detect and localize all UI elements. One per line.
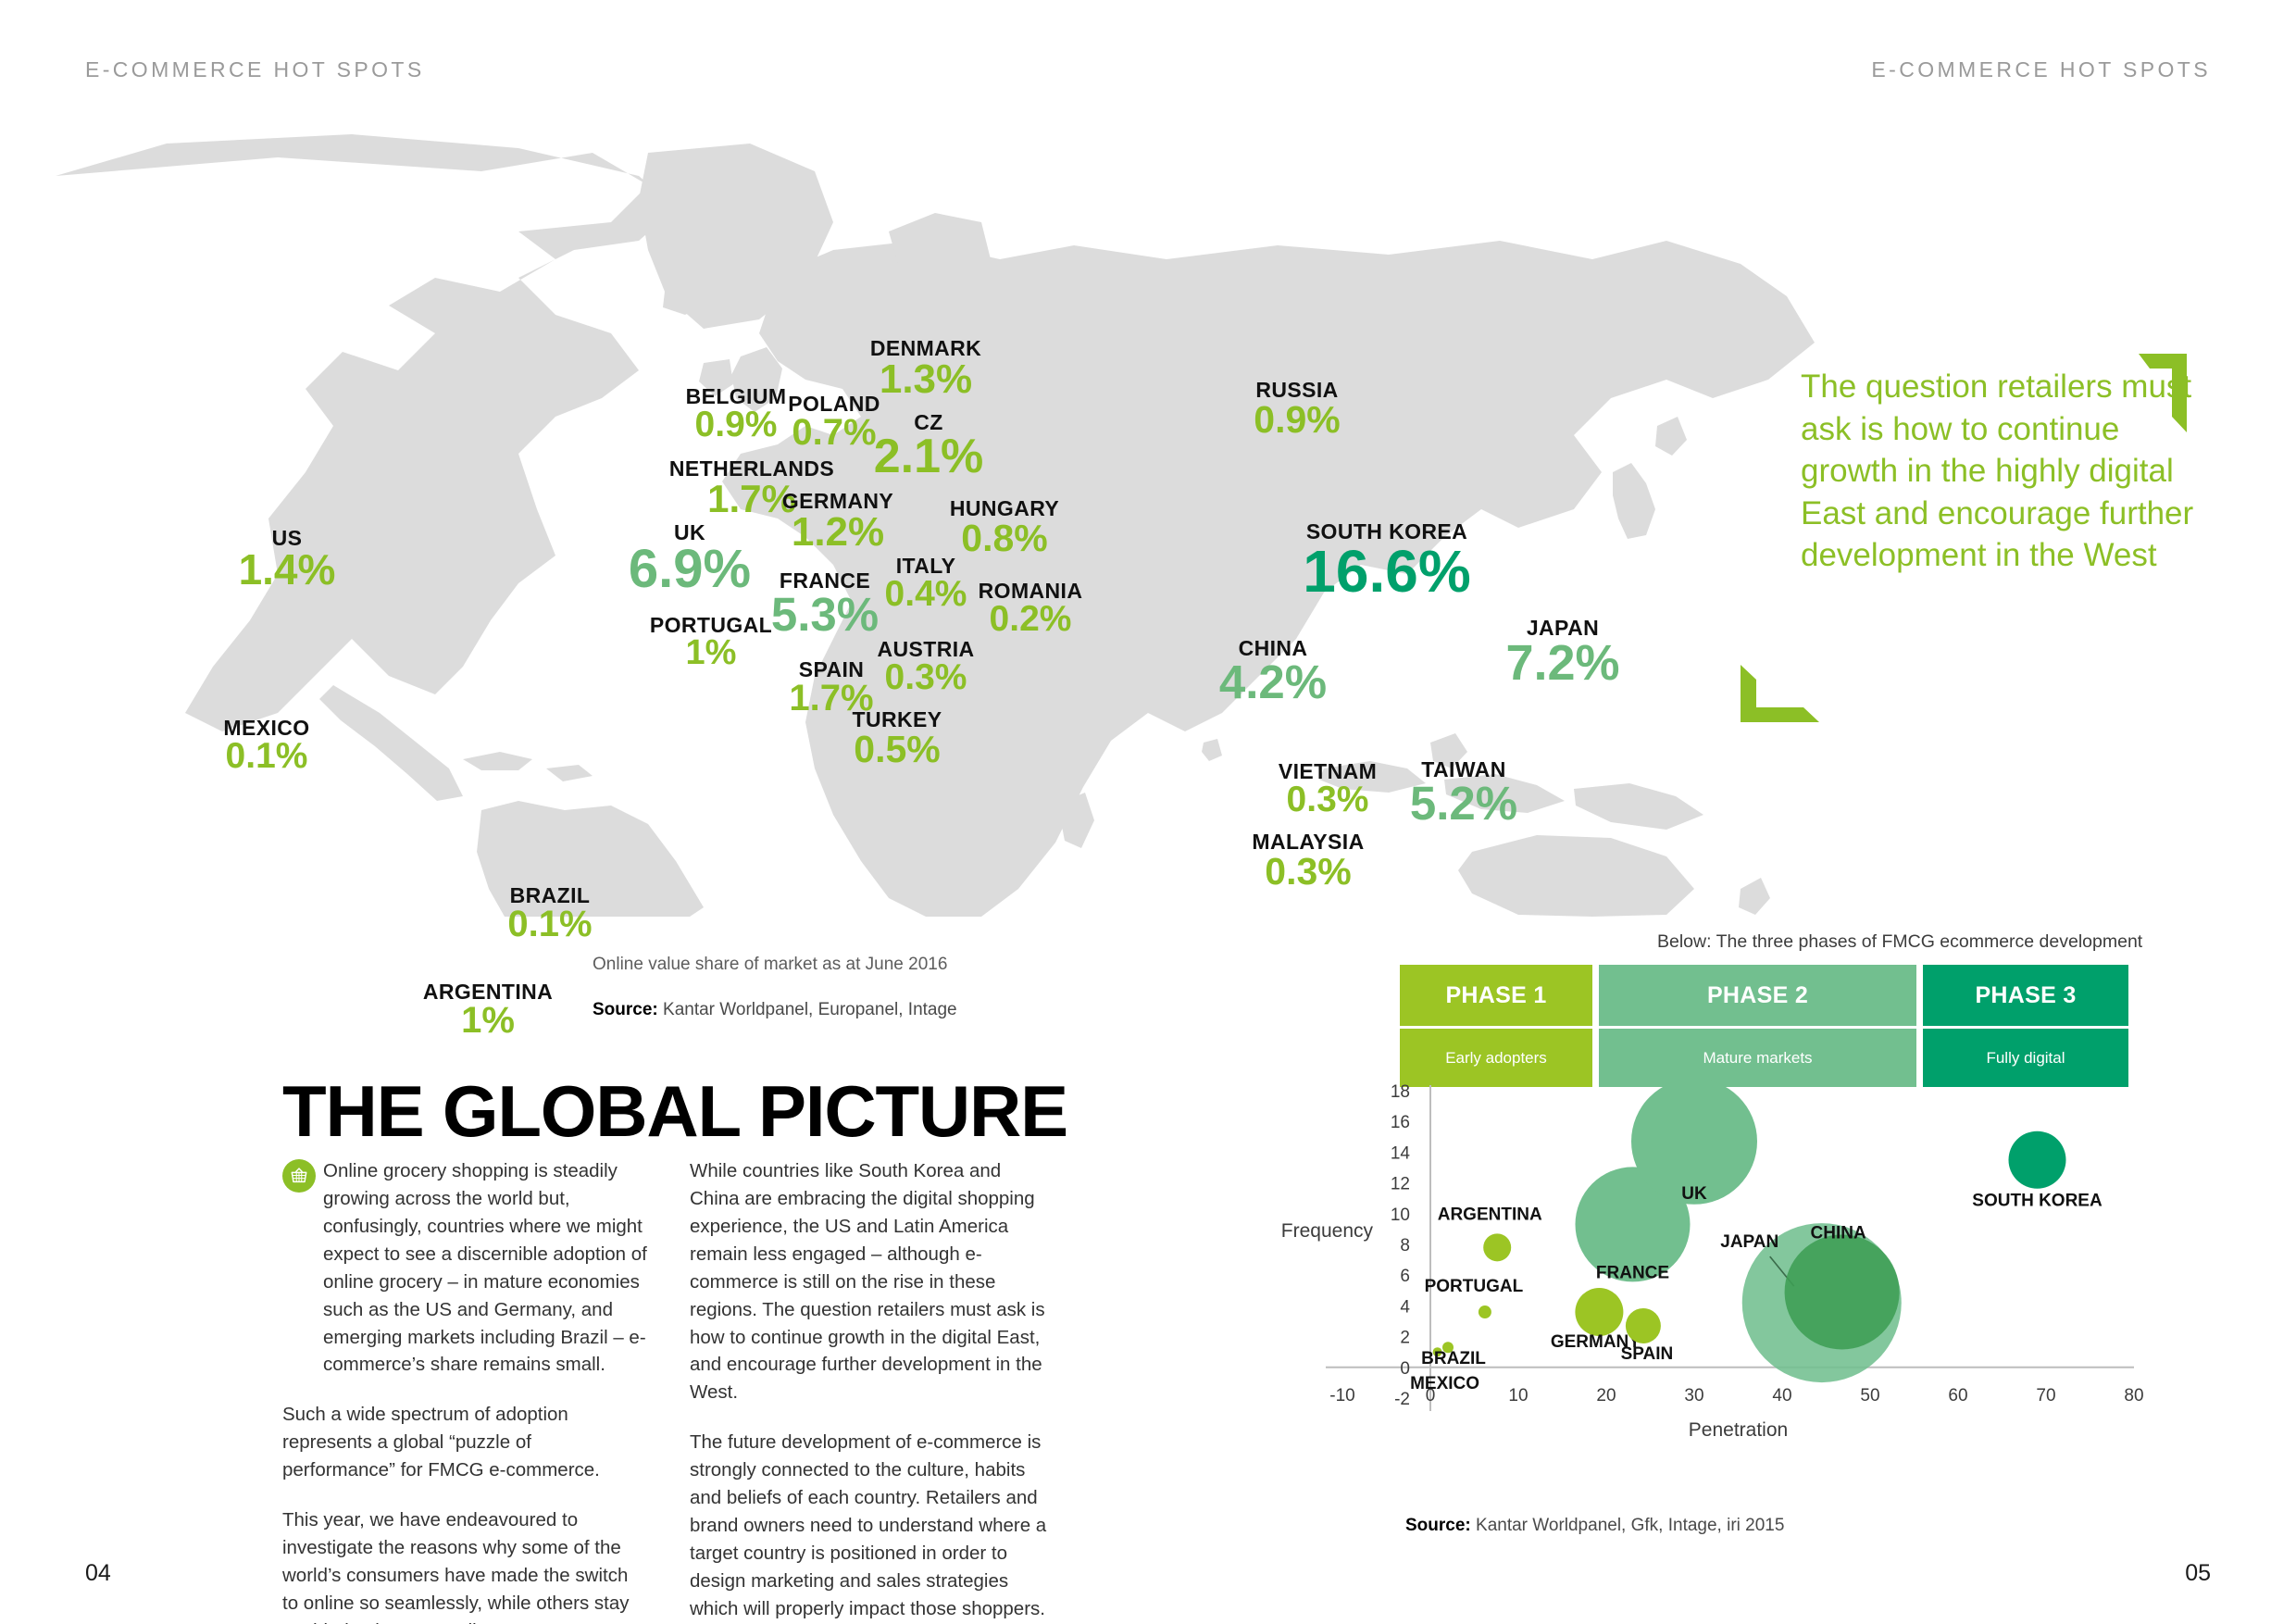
x-axis-title: Penetration	[1689, 1419, 1788, 1441]
paragraph: The future development of e-commerce is …	[690, 1429, 1055, 1624]
page-number-left: 04	[85, 1560, 111, 1587]
phase-box-3: PHASE 3 Fully digital	[1923, 965, 2128, 1087]
bracket-bottom-left-icon	[1741, 665, 1819, 722]
map-label-japan: JAPAN7.2%	[1424, 618, 1702, 688]
country-value: 0.5%	[758, 731, 1036, 768]
bubble-south-korea[interactable]	[2009, 1131, 2066, 1189]
pull-quote-text: The question retailers must ask is how t…	[1801, 366, 2199, 577]
map-label-mexico: MEXICO0.1%	[128, 718, 406, 775]
x-tick-label: 20	[1596, 1386, 1616, 1405]
x-tick-label: 60	[1948, 1386, 1967, 1405]
chart-source: Source: Kantar Worldpanel, Gfk, Intage, …	[1405, 1516, 1784, 1536]
country-value: 0.2%	[892, 602, 1169, 637]
y-tick-label: -2	[1394, 1390, 1410, 1409]
bubble-label-china: CHINA	[1811, 1223, 1866, 1243]
bubble-label-uk: UK	[1681, 1184, 1707, 1204]
country-value: 7.2%	[1424, 639, 1702, 688]
country-value: 0.9%	[1158, 401, 1436, 438]
y-tick-label: 2	[1400, 1329, 1410, 1348]
map-label-argentina: ARGENTINA1%	[349, 981, 627, 1040]
chart-source-text: Kantar Worldpanel, Gfk, Intage, iri 2015	[1471, 1516, 1785, 1535]
paragraph: Online grocery shopping is steadily grow…	[282, 1157, 648, 1379]
map-label-cz: CZ2.1%	[790, 412, 1067, 481]
map-source-text: Kantar Worldpanel, Europanel, Intage	[658, 1000, 957, 1019]
x-tick-label: -10	[1329, 1386, 1354, 1405]
bubble-label-brazil: BRAZIL	[1421, 1349, 1486, 1368]
spread-page: E-COMMERCE HOT SPOTS E-COMMERCE HOT SPOT…	[0, 0, 2296, 1624]
country-value: 5.2%	[1325, 781, 1603, 827]
country-value: 1.3%	[787, 359, 1065, 399]
map-label-denmark: DENMARK1.3%	[787, 338, 1065, 400]
bubble-germany[interactable]	[1575, 1288, 1623, 1336]
bubble-label-portugal: PORTUGAL	[1425, 1277, 1524, 1296]
bubble-label-france: FRANCE	[1596, 1263, 1669, 1282]
map-label-us: US1.4%	[148, 528, 426, 592]
country-value: 1.4%	[148, 549, 426, 591]
y-tick-label: 8	[1400, 1236, 1410, 1255]
pull-quote: The question retailers must ask is how t…	[1801, 366, 2199, 577]
page-title: THE GLOBAL PICTURE	[282, 1069, 1067, 1154]
paragraph: Such a wide spectrum of adoption represe…	[282, 1401, 648, 1484]
paragraph: While countries like South Korea and Chi…	[690, 1157, 1055, 1406]
running-head-right: E-COMMERCE HOT SPOTS	[1871, 57, 2211, 82]
bubble-spain[interactable]	[1626, 1308, 1661, 1343]
map-label-russia: RUSSIA0.9%	[1158, 380, 1436, 439]
map-label-malaysia: MALAYSIA0.3%	[1169, 831, 1447, 891]
y-tick-label: 6	[1400, 1267, 1410, 1286]
country-value: 4.2%	[1134, 659, 1412, 706]
bubble-label-argentina: ARGENTINA	[1438, 1205, 1542, 1224]
map-label-turkey: TURKEY0.5%	[758, 709, 1036, 768]
bubble-portugal[interactable]	[1479, 1305, 1491, 1318]
bubble-label-south-korea: SOUTH KOREA	[1972, 1192, 2103, 1211]
page-number-right: 05	[2185, 1560, 2211, 1587]
phase-box-2: PHASE 2 Mature markets	[1599, 965, 1916, 1087]
body-column-1: Online grocery shopping is steadily grow…	[282, 1157, 648, 1624]
x-tick-label: 50	[1860, 1386, 1879, 1405]
running-head-left: E-COMMERCE HOT SPOTS	[85, 57, 425, 82]
bubble-china[interactable]	[1785, 1234, 1900, 1349]
country-value: 2.1%	[790, 433, 1067, 481]
map-label-romania: ROMANIA0.2%	[892, 581, 1169, 638]
map-label-taiwan: TAIWAN5.2%	[1325, 759, 1603, 827]
bubble-argentina[interactable]	[1483, 1233, 1511, 1261]
y-tick-label: 4	[1400, 1297, 1410, 1317]
map-source: Source: Kantar Worldpanel, Europanel, In…	[593, 1000, 957, 1020]
phase-box-1: PHASE 1 Early adopters	[1400, 965, 1592, 1087]
phase-2-title: PHASE 2	[1599, 965, 1916, 1026]
bubble-label-mexico: MEXICO	[1410, 1374, 1479, 1393]
paragraph: This year, we have endeavoured to invest…	[282, 1506, 648, 1624]
country-value: 0.1%	[128, 739, 406, 774]
country-value: 16.6%	[1248, 543, 1526, 601]
y-tick-label: 10	[1391, 1206, 1410, 1225]
bubble-label-spain: SPAIN	[1621, 1344, 1674, 1364]
phase-1-title: PHASE 1	[1400, 965, 1592, 1026]
y-tick-label: 14	[1391, 1143, 1411, 1163]
y-tick-label: 18	[1391, 1082, 1410, 1102]
country-value: 0.3%	[1169, 853, 1447, 890]
map-label-hungary: HUNGARY0.8%	[866, 498, 1143, 557]
phase-caption: Below: The three phases of FMCG ecommerc…	[1657, 931, 2142, 953]
body-column-2: While countries like South Korea and Chi…	[690, 1157, 1055, 1624]
y-tick-label: 0	[1400, 1359, 1410, 1379]
x-tick-label: 40	[1772, 1386, 1791, 1405]
y-axis-title: Frequency	[1281, 1220, 1374, 1242]
y-tick-label: 16	[1391, 1113, 1410, 1132]
map-label-china: CHINA4.2%	[1134, 638, 1412, 706]
x-tick-label: 70	[2036, 1386, 2055, 1405]
country-value: 0.8%	[866, 519, 1143, 556]
y-tick-label: 12	[1391, 1175, 1410, 1194]
x-tick-label: 10	[1508, 1386, 1528, 1405]
map-footnote: Online value share of market as at June …	[593, 955, 947, 975]
country-value: 1%	[349, 1003, 627, 1039]
bubble-label-japan: JAPAN	[1720, 1232, 1778, 1252]
country-value: 0.1%	[411, 906, 689, 943]
map-label-brazil: BRAZIL0.1%	[411, 885, 689, 943]
x-tick-label: 80	[2124, 1386, 2143, 1405]
map-label-south-korea: SOUTH KOREA16.6%	[1248, 521, 1526, 601]
phase-3-title: PHASE 3	[1923, 965, 2128, 1026]
map-source-label: Source:	[593, 1000, 658, 1019]
chart-source-label: Source:	[1405, 1516, 1471, 1535]
penetration-frequency-bubble-chart: -2024681012141618-1001020304050607080Fre…	[1231, 1074, 2157, 1481]
x-tick-label: 30	[1684, 1386, 1703, 1405]
